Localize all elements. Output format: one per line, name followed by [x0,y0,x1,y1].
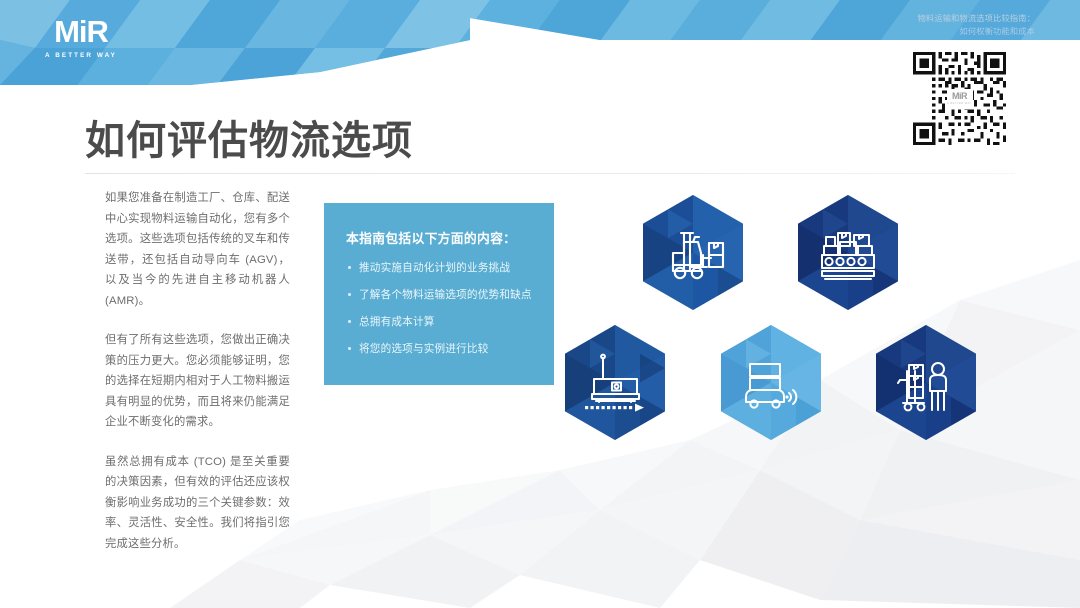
kicker-line-2: 如何权衡功能和成本 [795,25,1035,38]
hex-manual-handling[interactable] [876,325,976,440]
header-kicker: 物料运输和物流选项比较指南： 如何权衡功能和成本 [795,12,1035,38]
hand-truck-worker-icon [876,325,976,440]
hex-agv[interactable] [565,325,665,440]
qr-center-logo: MiR A BETTER WAY [947,89,973,109]
intro-copy: 如果您准备在制造工厂、仓库、配送中心实现物料运输自动化，您有多个选项。这些选项包… [105,188,290,573]
callout-item: 了解各个物料运输选项的优势和缺点 [346,287,532,303]
mir-logo[interactable]: MiR A BETTER WAY [26,16,136,62]
kicker-line-1: 物料运输和物流选项比较指南： [795,12,1035,25]
paragraph-2: 但有了所有这些选项，您做出正确决策的压力更大。您必须能够证明，您的选择在短期内相… [105,330,290,433]
page-title: 如何评估物流选项 [85,118,413,164]
hex-conveyor[interactable] [798,195,898,310]
callout-heading: 本指南包括以下方面的内容： [346,230,532,247]
callout-item: 将您的选项与实例进行比较 [346,341,532,357]
callout-item: 推动实施自动化计划的业务挑战 [346,260,532,276]
conveyor-belt-icon [798,195,898,310]
qr-logo-tagline: A BETTER WAY [947,102,972,105]
qr-code[interactable]: MiR A BETTER WAY [913,52,1006,145]
logistics-options-hex-cluster [565,190,1065,465]
qr-logo-wordmark: MiR [952,92,967,101]
title-divider [85,173,1015,174]
logo-wordmark: MiR [54,16,108,47]
logo-tagline: A BETTER WAY [45,52,117,59]
poster-page: MiR A BETTER WAY 物料运输和物流选项比较指南： 如何权衡功能和成… [0,0,1080,608]
header-band: MiR A BETTER WAY 物料运输和物流选项比较指南： 如何权衡功能和成… [0,0,1080,95]
amr-robot-icon [721,325,821,440]
agv-icon [565,325,665,440]
hex-amr[interactable] [721,325,821,440]
guide-contents-callout: 本指南包括以下方面的内容： 推动实施自动化计划的业务挑战 了解各个物料运输选项的… [324,203,554,385]
paragraph-1: 如果您准备在制造工厂、仓库、配送中心实现物料运输自动化，您有多个选项。这些选项包… [105,188,290,311]
callout-item: 总拥有成本计算 [346,314,532,330]
paragraph-3: 虽然总拥有成本 (TCO) 是至关重要的决策因素，但有效的评估还应该权衡影响业务… [105,452,290,555]
callout-list: 推动实施自动化计划的业务挑战 了解各个物料运输选项的优势和缺点 总拥有成本计算 … [346,260,532,357]
hex-forklift[interactable] [643,195,743,310]
forklift-icon [643,195,743,310]
